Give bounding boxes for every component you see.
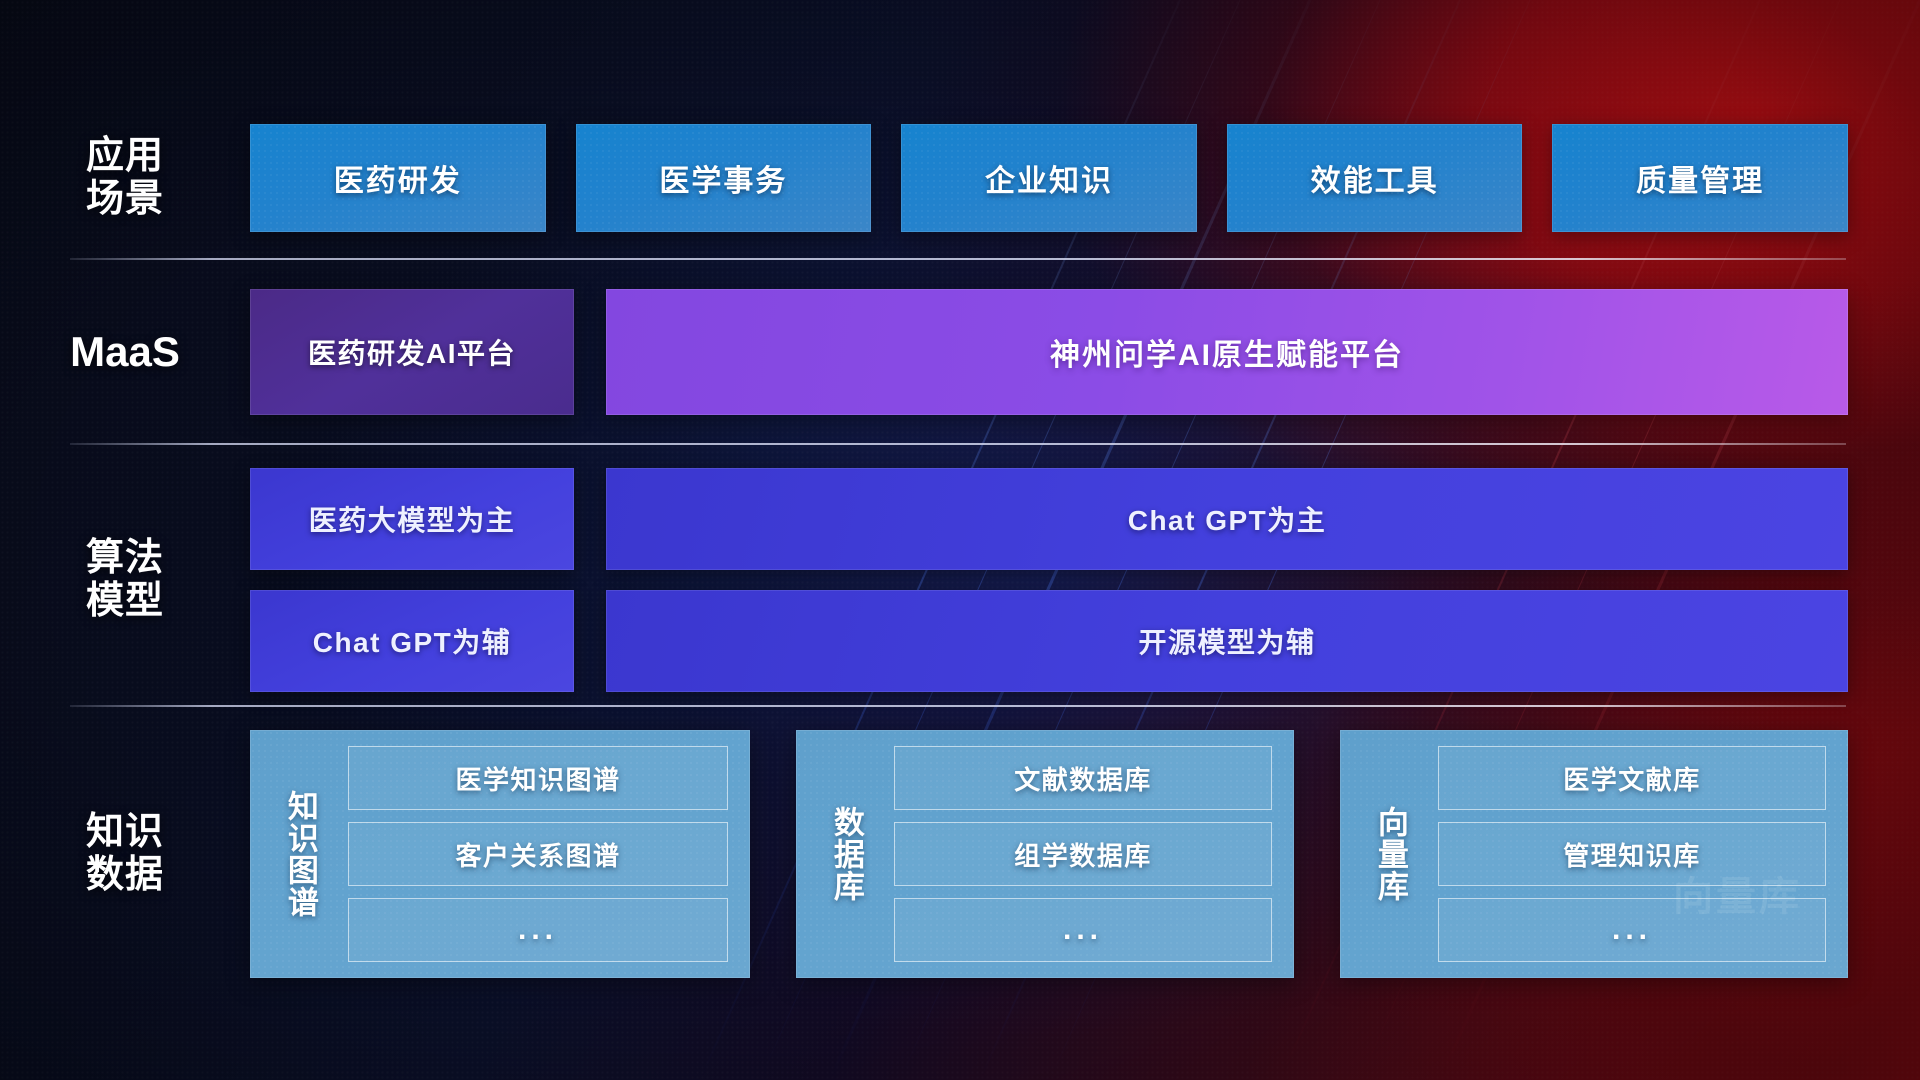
knowledge-item-label: 组学数据库: [1014, 836, 1152, 873]
algorithm-box-label: Chat GPT为主: [1128, 499, 1327, 539]
knowledge-item[interactable]: 管理知识库: [1438, 822, 1826, 886]
row-label-application-scenarios: 应用 场景: [0, 135, 250, 220]
divider-line: [70, 443, 1846, 445]
knowledge-item-label: ...: [1063, 913, 1103, 947]
application-box[interactable]: 质量管理: [1552, 124, 1848, 232]
knowledge-group-vector-store[interactable]: 向量库 医学文献库 管理知识库 ... 向量库: [1340, 730, 1848, 978]
knowledge-item[interactable]: 医学知识图谱: [348, 746, 728, 810]
application-box[interactable]: 效能工具: [1227, 124, 1523, 232]
row-knowledge-data: 知识 数据 知识图谱 医学知识图谱 客户关系图谱 ...: [0, 730, 1920, 978]
row-label-algorithm-models: 算法 模型: [0, 537, 250, 622]
knowledge-item-more[interactable]: ...: [894, 898, 1272, 962]
application-box[interactable]: 医学事务: [576, 124, 872, 232]
knowledge-group-vertical-label: 数据库: [818, 746, 874, 962]
knowledge-item-label: 文献数据库: [1014, 760, 1152, 797]
application-box[interactable]: 企业知识: [901, 124, 1197, 232]
application-box-label: 医学事务: [659, 156, 787, 200]
divider-line: [70, 258, 1846, 260]
algorithm-models-content: 医药大模型为主 Chat GPT为主 Chat GPT为辅 开源模型为辅: [250, 468, 1920, 692]
application-scenarios-content: 医药研发 医学事务 企业知识 效能工具 质量管理: [250, 124, 1920, 232]
knowledge-item-label: 医学知识图谱: [455, 760, 620, 797]
application-box-list: 医药研发 医学事务 企业知识 效能工具 质量管理: [250, 124, 1920, 232]
row-application-scenarios: 应用 场景 医药研发 医学事务 企业知识 效能工具 质量管理: [0, 118, 1920, 238]
knowledge-item-list: 文献数据库 组学数据库 ...: [894, 746, 1272, 962]
knowledge-item-more[interactable]: ...: [1438, 898, 1826, 962]
divider-line: [70, 705, 1846, 707]
application-box[interactable]: 医药研发: [250, 124, 546, 232]
knowledge-group-vertical-label: 向量库: [1362, 746, 1418, 962]
knowledge-item[interactable]: 客户关系图谱: [348, 822, 728, 886]
algorithm-row-primary: 医药大模型为主 Chat GPT为主: [250, 468, 1848, 570]
knowledge-item[interactable]: 医学文献库: [1438, 746, 1826, 810]
knowledge-group-list: 知识图谱 医学知识图谱 客户关系图谱 ... 数据库: [250, 730, 1920, 978]
knowledge-item-label: ...: [1612, 913, 1652, 947]
algorithm-row-secondary: Chat GPT为辅 开源模型为辅: [250, 590, 1848, 692]
knowledge-item-label: 医学文献库: [1563, 760, 1701, 797]
application-box-label: 效能工具: [1311, 156, 1439, 200]
application-box-label: 质量管理: [1636, 156, 1764, 200]
row-label-knowledge-data: 知识 数据: [0, 811, 250, 896]
maas-box-list: 医药研发AI平台 神州问学AI原生赋能平台: [250, 289, 1920, 415]
maas-platform-shenzhou-label: 神州问学AI原生赋能平台: [1050, 330, 1404, 374]
row-label-maas: MaaS: [0, 328, 250, 375]
knowledge-group-vertical-label: 知识图谱: [272, 746, 328, 962]
knowledge-item[interactable]: 文献数据库: [894, 746, 1272, 810]
algorithm-box-primary-left[interactable]: 医药大模型为主: [250, 468, 574, 570]
knowledge-item-list: 医学知识图谱 客户关系图谱 ...: [348, 746, 728, 962]
knowledge-group-knowledge-graph[interactable]: 知识图谱 医学知识图谱 客户关系图谱 ...: [250, 730, 750, 978]
maas-content: 医药研发AI平台 神州问学AI原生赋能平台: [250, 289, 1920, 415]
algorithm-box-secondary-left[interactable]: Chat GPT为辅: [250, 590, 574, 692]
knowledge-item-label: ...: [518, 913, 558, 947]
algorithm-box-secondary-right[interactable]: 开源模型为辅: [606, 590, 1848, 692]
knowledge-item-list: 医学文献库 管理知识库 ...: [1438, 746, 1826, 962]
algorithm-box-label: Chat GPT为辅: [313, 621, 512, 661]
application-box-label: 医药研发: [334, 156, 462, 200]
algorithm-box-grid: 医药大模型为主 Chat GPT为主 Chat GPT为辅 开源模型为辅: [250, 468, 1920, 692]
knowledge-group-database[interactable]: 数据库 文献数据库 组学数据库 ...: [796, 730, 1294, 978]
row-maas: MaaS 医药研发AI平台 神州问学AI原生赋能平台: [0, 288, 1920, 416]
slide-canvas: 应用 场景 医药研发 医学事务 企业知识 效能工具 质量管理: [0, 0, 1920, 1080]
knowledge-item[interactable]: 组学数据库: [894, 822, 1272, 886]
maas-platform-shenzhou-box[interactable]: 神州问学AI原生赋能平台: [606, 289, 1848, 415]
algorithm-box-label: 医药大模型为主: [309, 499, 516, 539]
maas-platform-pharma-label: 医药研发AI平台: [308, 332, 516, 372]
row-algorithm-models: 算法 模型 医药大模型为主 Chat GPT为主 Chat GPT为辅: [0, 465, 1920, 695]
knowledge-item-label: 客户关系图谱: [455, 836, 620, 873]
knowledge-data-content: 知识图谱 医学知识图谱 客户关系图谱 ... 数据库: [250, 730, 1920, 978]
algorithm-box-label: 开源模型为辅: [1138, 621, 1315, 661]
application-box-label: 企业知识: [985, 156, 1113, 200]
maas-platform-pharma-box[interactable]: 医药研发AI平台: [250, 289, 574, 415]
knowledge-item-more[interactable]: ...: [348, 898, 728, 962]
algorithm-box-primary-right[interactable]: Chat GPT为主: [606, 468, 1848, 570]
knowledge-item-label: 管理知识库: [1563, 836, 1701, 873]
